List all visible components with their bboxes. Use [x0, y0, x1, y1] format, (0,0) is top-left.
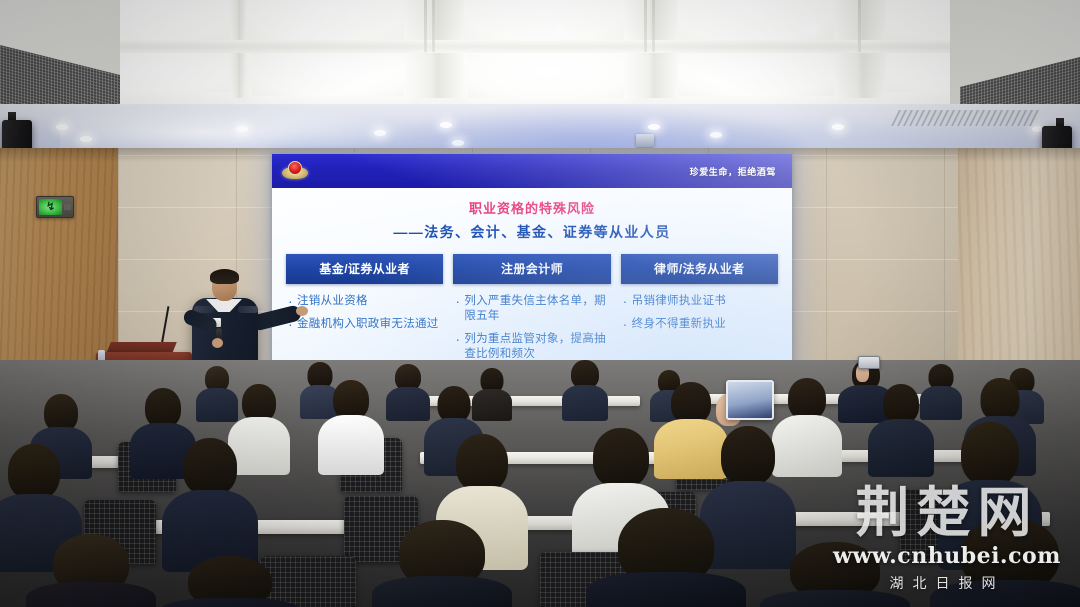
audience-member: [586, 508, 746, 607]
wall-downlight: [80, 136, 92, 142]
torso: [160, 598, 300, 607]
wall-downlight: [452, 140, 464, 146]
column-heading: 注册会计师: [453, 254, 610, 284]
column-bullets: 吊销律师执业证书 终身不得重新执业: [621, 294, 778, 332]
ceiling-projector: [636, 134, 654, 147]
slide-title: 职业资格的特殊风险: [286, 200, 778, 218]
wall-downlight: [236, 126, 248, 132]
ceiling-light-panel: [460, 0, 625, 42]
slide-column-3: 律师/法务从业者 吊销律师执业证书 终身不得重新执业: [621, 254, 778, 340]
head: [981, 378, 1020, 421]
ceiling-light-panel: [672, 0, 834, 42]
head: [671, 382, 711, 424]
head: [788, 378, 826, 420]
ceiling-spotlight: [556, 26, 565, 33]
column-bullets: 注销从业资格 金融机构入职政审无法通过: [286, 294, 443, 332]
slide-subtitle: ——法务、会计、基金、证券等从业人员: [286, 223, 778, 241]
ceiling-seam: [424, 0, 427, 52]
head: [721, 426, 775, 486]
wall-glow: [380, 104, 800, 152]
audience-member: [372, 520, 512, 607]
bullet-item: 注销从业资格: [288, 294, 441, 309]
tablet-device: [726, 380, 774, 420]
ceiling-rib: [40, 40, 1050, 53]
slide-header-band: 珍爱生命，拒绝酒驾: [272, 154, 792, 188]
presenter-left-hand: [212, 338, 223, 348]
audience-member: [760, 542, 910, 607]
audience-area: [0, 360, 1080, 607]
bullet-item: 吊销律师执业证书: [623, 294, 776, 309]
torso: [26, 582, 156, 607]
wall-downlight: [374, 130, 386, 136]
bullet-item: 列入严重失信主体名单，期限五年: [455, 294, 608, 324]
wall-downlight: [440, 122, 452, 128]
presenter-hair: [210, 269, 239, 284]
audience-member: [26, 534, 156, 607]
wall-downlight: [832, 124, 844, 130]
police-emblem-icon: [282, 160, 308, 182]
head: [8, 444, 60, 500]
torso: [562, 385, 608, 421]
head: [145, 388, 181, 428]
ceiling-light-panel: [244, 0, 404, 42]
head: [961, 422, 1019, 486]
smartphone: [858, 356, 880, 369]
torso: [372, 576, 512, 607]
ceiling-seam: [432, 0, 435, 52]
torso: [318, 415, 384, 475]
emergency-exit-sign: ↯: [36, 196, 74, 218]
audience-member: [562, 360, 608, 418]
head: [183, 438, 237, 496]
wall-downlight: [56, 124, 68, 130]
audience-member: [930, 518, 1080, 607]
torso: [760, 590, 910, 607]
audience-member: [318, 380, 384, 472]
ceiling-spotlight: [300, 26, 309, 33]
torso: [868, 419, 934, 477]
presenter-right-hand: [296, 306, 308, 316]
wall-downlight: [648, 124, 660, 130]
exit-sign-nub: [64, 204, 71, 210]
ceiling-seam: [644, 0, 647, 52]
torso: [930, 580, 1080, 607]
torso: [586, 572, 746, 607]
slide-slogan: 珍爱生命，拒绝酒驾: [690, 165, 776, 178]
ceiling-spotlight: [348, 10, 357, 17]
ceiling-spotlight: [808, 26, 817, 33]
emblem-disc: [288, 161, 302, 175]
head: [883, 384, 919, 424]
air-vent: [891, 110, 1039, 126]
column-heading: 律师/法务从业者: [621, 254, 778, 284]
ceiling-seam: [652, 0, 655, 52]
ceiling-spotlight: [756, 12, 765, 19]
ceiling-light-panel: [252, 52, 410, 96]
wall-downlight: [710, 132, 722, 138]
head: [333, 380, 369, 420]
presenter-epaulette: [238, 306, 258, 313]
slide-column-1: 基金/证券从业者 注销从业资格 金融机构入职政审无法通过: [286, 254, 443, 340]
audience-member: [162, 438, 258, 564]
head: [456, 434, 508, 492]
bullet-item: 列为重点监管对象，提高抽查比例和频次: [455, 332, 608, 362]
exit-icon: ↯: [39, 199, 62, 215]
photo-scene: ↯ 珍爱生命，拒绝酒驾 职业资格的特殊风险 ——法务、会计、基金、证券等从业人员…: [0, 0, 1080, 607]
head: [593, 428, 649, 488]
bullet-item: 金融机构入职政审无法通过: [288, 317, 441, 332]
ceiling-light-panel: [678, 52, 836, 96]
ceiling-seam: [858, 0, 861, 52]
ceiling-light-panel: [468, 54, 628, 98]
audience-member: [160, 556, 300, 607]
column-heading: 基金/证券从业者: [286, 254, 443, 284]
bullet-item: 终身不得重新执业: [623, 317, 776, 332]
audience-member: [868, 384, 934, 474]
ceiling: [0, 0, 1080, 112]
